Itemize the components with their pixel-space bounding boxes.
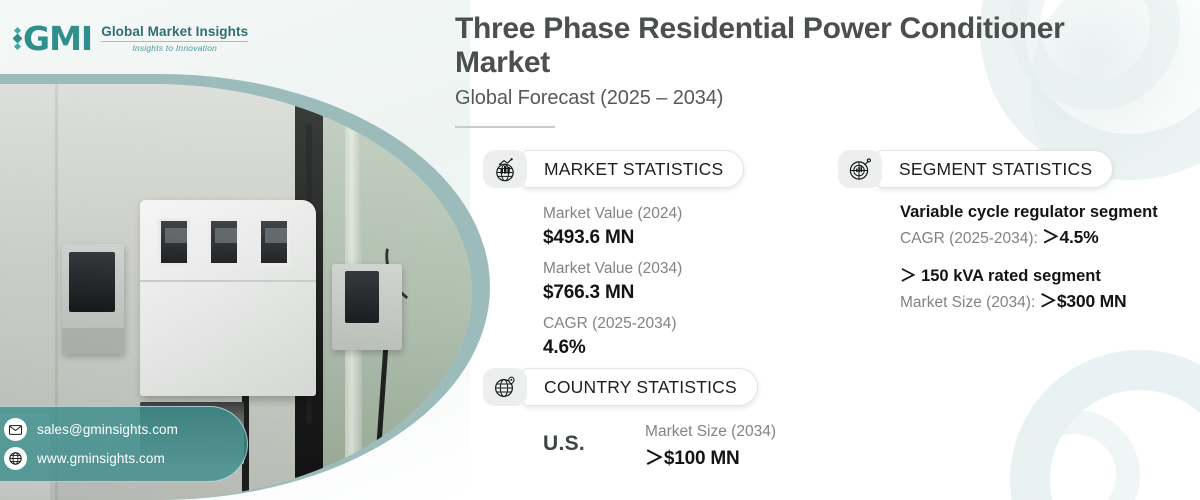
market-value-2034-value: $766.3 MN xyxy=(543,280,744,306)
country-statistics-heading: COUNTRY STATISTICS xyxy=(523,368,758,406)
pie-chart-target-icon xyxy=(838,150,882,188)
brand-logo[interactable]: GMI Global Market Insights Insights to I… xyxy=(14,22,248,55)
segment-statistics-section: SEGMENT STATISTICS Variable cycle regula… xyxy=(838,150,1188,314)
country-market-size-label: Market Size (2034) xyxy=(645,420,776,443)
globe-bar-chart-icon xyxy=(483,150,527,188)
globe-pin-icon xyxy=(483,368,527,406)
segment-1-metric-value: ＞4.5% xyxy=(1042,227,1098,247)
segment-1-name: Variable cycle regulator segment xyxy=(900,202,1188,224)
header: Three Phase Residential Power Conditione… xyxy=(455,12,1155,128)
logo-company-name: Global Market Insights xyxy=(101,24,248,39)
market-value-2024-value: $493.6 MN xyxy=(543,225,744,251)
contact-email-row[interactable]: sales@gminsights.com xyxy=(4,418,237,441)
segment-2-metric-value: ＞$300 MN xyxy=(1040,291,1127,311)
market-statistics-section: MARKET STATISTICS Market Value (2024) $4… xyxy=(483,150,744,367)
logo-diamond-icon xyxy=(14,28,21,49)
segment-statistics-heading: SEGMENT STATISTICS xyxy=(878,150,1113,188)
envelope-icon xyxy=(4,418,27,441)
country-statistics-section: COUNTRY STATISTICS U.S. Market Size (203… xyxy=(483,368,776,470)
segment-2-metric-label: Market Size (2034): xyxy=(900,294,1040,311)
market-statistics-heading: MARKET STATISTICS xyxy=(523,150,744,188)
page-title: Three Phase Residential Power Conditione… xyxy=(455,12,1155,79)
contact-badge: sales@gminsights.com www.gminsights.com xyxy=(0,406,248,482)
country-name: U.S. xyxy=(543,420,585,456)
logo-initials: GMI xyxy=(23,22,92,55)
contact-email-text: sales@gminsights.com xyxy=(37,422,178,437)
market-value-2034-label: Market Value (2034) xyxy=(543,257,744,280)
segment-2-metric: Market Size (2034): ＞$300 MN xyxy=(900,288,1188,314)
market-cagr-value: 4.6% xyxy=(543,335,744,361)
market-value-2024-label: Market Value (2024) xyxy=(543,202,744,225)
market-cagr-label: CAGR (2025-2034) xyxy=(543,312,744,335)
country-market-size-value: ＞$100 MN xyxy=(645,443,776,470)
header-divider xyxy=(455,126,555,128)
globe-icon xyxy=(4,447,27,470)
contact-website-row[interactable]: www.gminsights.com xyxy=(4,447,237,470)
page-subtitle: Global Forecast (2025 – 2034) xyxy=(455,87,1155,110)
segment-1-metric: CAGR (2025-2034): ＞4.5% xyxy=(900,224,1188,250)
infographic-canvas: sales@gminsights.com www.gminsights.com … xyxy=(0,0,1200,500)
segment-1-metric-label: CAGR (2025-2034): xyxy=(900,230,1042,247)
logo-tagline: Insights to Innovation xyxy=(101,43,248,53)
contact-website-text: www.gminsights.com xyxy=(37,451,165,466)
segment-2-name: ＞ 150 kVA rated segment xyxy=(900,266,1188,288)
logo-divider xyxy=(101,41,248,42)
logo-mark: GMI xyxy=(14,22,92,55)
